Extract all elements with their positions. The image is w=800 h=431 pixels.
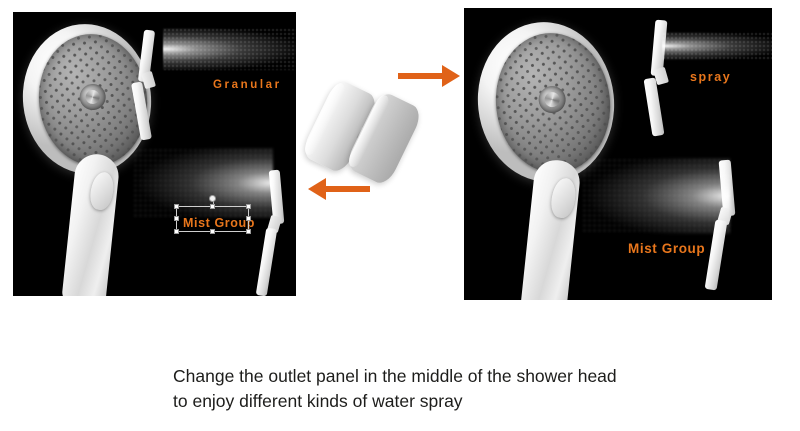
- resize-handle-se[interactable]: [246, 229, 251, 234]
- page-stage: Granular Mist Group: [0, 0, 800, 431]
- shower-handle: [61, 152, 120, 296]
- tube-lower-seg: [131, 81, 152, 140]
- tube-bend: [141, 71, 156, 89]
- label-spray: spray: [690, 70, 731, 84]
- shower-head-photo-right[interactable]: [464, 8, 772, 300]
- arrow-head: [442, 65, 460, 87]
- label-granular: Granular: [213, 79, 282, 91]
- granular-spray-plume: [163, 28, 296, 70]
- shower-handle: [520, 158, 582, 300]
- spray-plume: [662, 32, 772, 60]
- resize-handle-e[interactable]: [246, 216, 251, 221]
- outlet-panel-swap-diagram: [310, 68, 460, 208]
- arrow-head: [308, 178, 326, 200]
- resize-handle-nw[interactable]: [174, 204, 179, 209]
- resize-handle-n[interactable]: [210, 204, 215, 209]
- mist-spray-plume: [582, 158, 730, 234]
- shower-head-photo-left[interactable]: [13, 12, 296, 296]
- resize-handle-sw[interactable]: [174, 229, 179, 234]
- arrow-shaft: [324, 186, 370, 192]
- caption-line-2: to enjoy different kinds of water spray: [173, 389, 733, 414]
- caption-line-1: Change the outlet panel in the middle of…: [173, 364, 733, 389]
- tube-lower-seg: [644, 77, 665, 136]
- resize-handle-w[interactable]: [174, 216, 179, 221]
- rotate-handle[interactable]: [209, 195, 216, 202]
- resize-handle-s[interactable]: [210, 229, 215, 234]
- tube-lower-seg: [256, 228, 278, 296]
- label-mist-group-right: Mist Group: [628, 241, 705, 256]
- resize-handle-ne[interactable]: [246, 204, 251, 209]
- caption: Change the outlet panel in the middle of…: [173, 364, 733, 414]
- arrow-shaft: [398, 73, 444, 79]
- text-box-selection[interactable]: [176, 206, 249, 232]
- shower-head-nozzle-plate: [489, 27, 617, 178]
